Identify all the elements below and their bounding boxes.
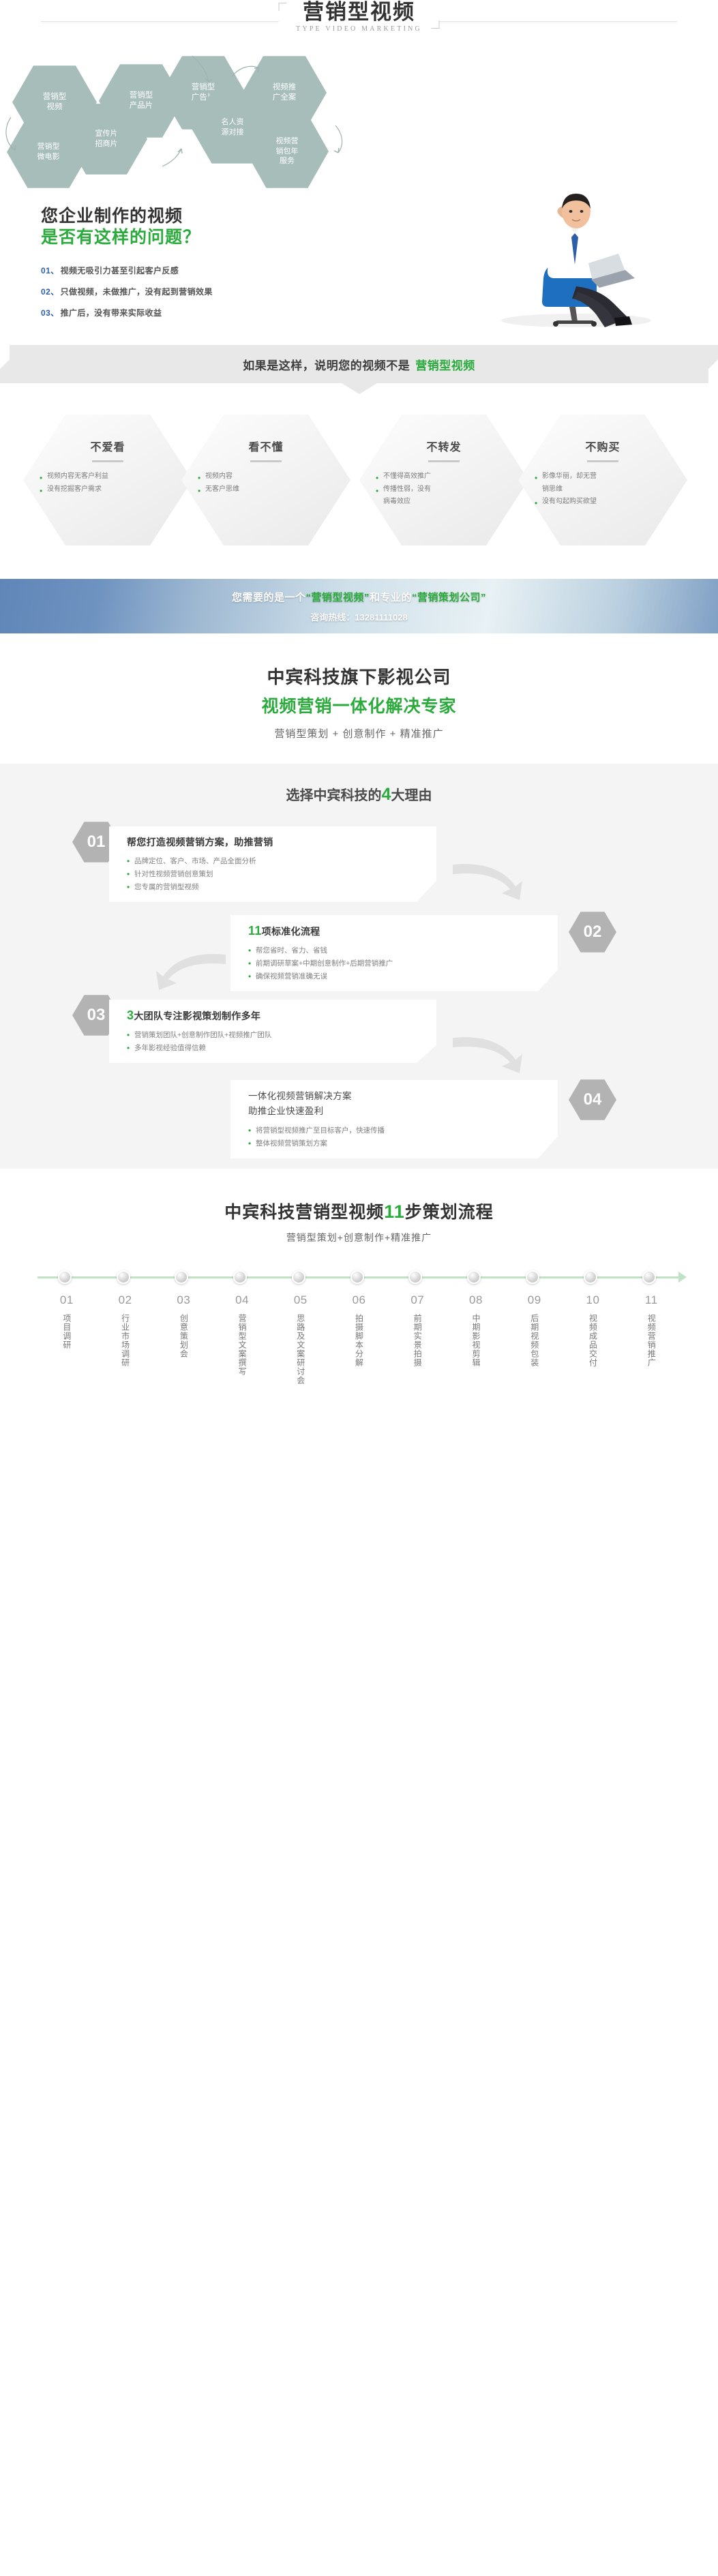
reason-card-0: 帮您打造视频营销方案，助推营销 品牌定位、客户、市场、产品全面分析 针对性视频营… <box>109 826 436 902</box>
problem-hex-1-list: 视频内容 无客户思维 <box>198 470 334 496</box>
problem-hex-3: 不购买 影像华丽，却无营 销思维 没有勾起购买欲望 <box>518 412 687 548</box>
step-4-label: 思路及文案研讨会 <box>295 1314 307 1385</box>
reasons-title-big: 4 <box>382 785 391 804</box>
step-3-number: 04 <box>213 1293 271 1307</box>
list-item: 不懂得高效推广 <box>376 470 512 483</box>
reasons-section: 选择中宾科技的4大理由 01 帮您打造视频营销方案，助推营销 品牌定位、客户、市… <box>0 764 718 1169</box>
reason-card-3-list: 将营销型视频推广至目标客户，快速传播 整体视频营销策划方案 <box>248 1124 544 1150</box>
service-hex-6-line-0: 营销型 <box>38 142 60 152</box>
timeline-dot <box>526 1270 539 1284</box>
problem-heading-line2: 是否有这样的问题？ <box>41 228 200 247</box>
step-7-number: 08 <box>447 1293 505 1307</box>
problem-item-0-num: 01、 <box>41 266 59 275</box>
landing-page: 营销型视频 TYPE VIDEO MARKETING 营销型 视频 宣传片 招商… <box>0 0 718 1416</box>
step-8-number: 09 <box>505 1293 564 1307</box>
gray-banner-highlight: 营销型视频 <box>415 359 475 372</box>
reason-arrow-0-icon <box>450 859 525 907</box>
list-item: 前期调研草案+中期创意制作+后期营销推广 <box>248 957 544 970</box>
step-0-number: 01 <box>38 1293 96 1307</box>
reasons-title: 选择中宾科技的4大理由 <box>0 784 718 805</box>
service-hex-0-line-0: 营销型 <box>43 92 67 102</box>
problem-hex-1: 看不懂 视频内容 无客户思维 <box>181 412 350 548</box>
service-hex-4-line-1: 源对接 <box>222 128 244 138</box>
service-hex-7-line-2: 服务 <box>276 156 299 166</box>
service-hex-1-line-0: 宣传片 <box>95 129 118 139</box>
timeline-dot <box>408 1270 422 1284</box>
steps-columns: 01 项目调研 02 行业市场调研 03 创意策划会 04 营销型文案撰写 05… <box>38 1293 680 1388</box>
problem-hex-0-divider <box>92 460 123 462</box>
list-item: 针对性视频营销创意策划 <box>127 868 423 881</box>
timeline-dot <box>58 1270 72 1284</box>
list-item: 营销策划团队+创意制作团队+视频推广团队 <box>127 1029 423 1042</box>
problem-item-2-text: 推广后，没有带来实际收益 <box>61 308 162 318</box>
list-item: 传播性弱，没有 <box>376 483 512 496</box>
reason-row-3: 04 一体化视频营销解决方案 助推企业快速盈利 将营销型视频推广至目标客户，快速… <box>0 1062 718 1137</box>
problem-hex-2-divider <box>428 460 460 462</box>
step-item-2: 03 创意策划会 <box>154 1293 213 1388</box>
step-item-0: 01 项目调研 <box>38 1293 96 1388</box>
service-hex-1-line-1: 招商片 <box>95 139 118 149</box>
reasons-title-pre: 选择中宾科技的 <box>286 788 382 803</box>
cta-mid: 和专业的 <box>370 592 412 603</box>
steps-title-big: 11 <box>384 1201 405 1222</box>
page-title: 营销型视频 <box>296 0 422 25</box>
list-item: 没有勾起购买欲望 <box>535 496 671 509</box>
list-item: 无客户思维 <box>198 483 334 496</box>
steps-title-post: 步策划流程 <box>405 1203 494 1222</box>
service-hex-2-line-0: 营销型 <box>130 91 153 101</box>
cta-quote-1: “营销型视频” <box>305 592 370 603</box>
cta-hotline: 咨询热线：13281111028 <box>310 610 407 623</box>
gray-banner-text: 如果是这样，说明您的视频不是 <box>243 359 410 372</box>
step-8-label: 后期视频包装 <box>528 1314 541 1367</box>
company-line-2: 视频营销一体化解决专家 <box>0 693 718 717</box>
step-10-label: 视频营销推广 <box>645 1314 657 1367</box>
reason-number-1: 02 <box>569 911 616 953</box>
gray-banner-wrap: 如果是这样，说明您的视频不是营销型视频 <box>0 345 718 394</box>
step-5-label: 拍摄脚本分解 <box>353 1314 365 1367</box>
steps-subtitle: 营销型策划+创意制作+精准推广 <box>0 1231 718 1244</box>
step-2-label: 创意策划会 <box>177 1314 190 1358</box>
corner-bracket-top-left-icon <box>278 3 286 11</box>
service-hex-0-line-1: 视频 <box>43 102 67 113</box>
list-item: 帮您省时、省力、省钱 <box>248 944 544 957</box>
timeline-dot <box>642 1270 656 1284</box>
reason-card-1-list: 帮您省时、省力、省钱 前期调研草案+中期创意制作+后期营销推广 确保视频营销准确… <box>248 944 544 983</box>
step-3-label: 营销型文案撰写 <box>236 1314 248 1376</box>
timeline-dot <box>467 1270 481 1284</box>
step-item-9: 10 视频成品交付 <box>564 1293 623 1388</box>
step-4-number: 05 <box>271 1293 330 1307</box>
cta-pre: 您需要的是一个 <box>232 592 306 603</box>
timeline-dot <box>292 1270 305 1284</box>
problem-hex-2-title: 不转发 <box>376 438 512 454</box>
step-0-label: 项目调研 <box>61 1314 73 1349</box>
problem-hex-3-divider <box>587 460 618 462</box>
step-9-number: 10 <box>564 1293 623 1307</box>
four-problems-section: 不爱看 视频内容无客户利益 没有挖掘客户需求 看不懂 视频内容 无客户思维 不转… <box>0 412 718 552</box>
problem-hex-3-title: 不购买 <box>535 438 671 454</box>
list-item: 没有挖掘客户需求 <box>40 483 176 496</box>
problem-item-1-text: 只做视频，未做推广，没有起到营销效果 <box>61 287 213 297</box>
reason-card-3-title: 一体化视频营销解决方案 助推企业快速盈利 <box>248 1089 544 1118</box>
cta-blue-banner: 您需要的是一个“营销型视频”和专业的“营销策划公司” 咨询热线：13281111… <box>0 579 718 633</box>
step-item-6: 07 前期实景拍摄 <box>388 1293 447 1388</box>
service-hex-7-line-0: 视频营 <box>276 136 299 147</box>
reason-card-2: 3大团队专注影视策划制作多年 营销策划团队+创意制作团队+视频推广团队 多年影视… <box>109 1000 436 1063</box>
step-item-7: 08 中期影视剪辑 <box>447 1293 505 1388</box>
service-hex-7-line-1: 销包年 <box>276 147 299 157</box>
reason-card-0-title: 帮您打造视频营销方案，助推营销 <box>127 835 423 849</box>
reason-card-1-title-text: 项标准化流程 <box>262 926 320 937</box>
gray-banner-notch <box>342 383 377 394</box>
step-7-label: 中期影视剪辑 <box>470 1314 482 1367</box>
problem-hex-2: 不转发 不懂得高效推广 传播性弱，没有 病毒效应 <box>359 412 528 548</box>
step-6-label: 前期实景拍摄 <box>411 1314 423 1367</box>
timeline-dot <box>233 1270 247 1284</box>
cta-headline: 您需要的是一个“营销型视频”和专业的“营销策划公司” <box>232 590 486 604</box>
problem-item-0-text: 视频无吸引力甚至引起客户反感 <box>61 266 179 275</box>
problem-hex-1-divider <box>250 460 282 462</box>
reason-row-0: 01 帮您打造视频营销方案，助推营销 品牌定位、客户、市场、产品全面分析 针对性… <box>0 821 718 901</box>
reason-card-2-title-big: 3 <box>127 1008 134 1022</box>
step-1-label: 行业市场调研 <box>119 1314 132 1367</box>
list-item: 品牌定位、客户、市场、产品全面分析 <box>127 855 423 868</box>
reason-row-1: 02 11项标准化流程 帮您省时、省力、省钱 前期调研草案+中期创意制作+后期营… <box>0 901 718 982</box>
page-subtitle: TYPE VIDEO MARKETING <box>296 25 422 33</box>
list-item: 销思维 <box>535 483 671 496</box>
reason-card-1: 11项标准化流程 帮您省时、省力、省钱 前期调研草案+中期创意制作+后期营销推广… <box>230 915 558 991</box>
list-item: 将营销型视频推广至目标客户，快速传播 <box>248 1124 544 1137</box>
step-item-10: 11 视频营销推广 <box>622 1293 680 1388</box>
header-title-block: 营销型视频 TYPE VIDEO MARKETING <box>278 0 440 33</box>
step-2-number: 03 <box>154 1293 213 1307</box>
list-item: 视频内容无客户利益 <box>40 470 176 483</box>
list-item: 影像华丽，却无营 <box>535 470 671 483</box>
timeline-dot <box>350 1270 364 1284</box>
list-item: 多年影视经验值得信赖 <box>127 1042 423 1055</box>
problem-heading-line1: 您企业制作的视频 <box>41 207 183 226</box>
company-section: 中宾科技旗下影视公司 视频营销一体化解决专家 营销型策划 + 创意制作 + 精准… <box>0 633 718 764</box>
page-header: 营销型视频 TYPE VIDEO MARKETING <box>0 0 718 42</box>
problem-item-1-num: 02、 <box>41 287 59 297</box>
reason-card-2-title: 3大团队专注影视策划制作多年 <box>127 1008 423 1023</box>
step-5-number: 06 <box>330 1293 389 1307</box>
problem-hex-2-list: 不懂得高效推广 传播性弱，没有 病毒效应 <box>376 470 512 509</box>
reason-card-2-title-text: 大团队专注影视策划制作多年 <box>134 1010 260 1021</box>
corner-bracket-bottom-right-icon <box>432 20 440 29</box>
timeline-arrow-icon <box>678 1272 687 1283</box>
list-item: 病毒效应 <box>376 496 512 509</box>
reason-card-1-title: 11项标准化流程 <box>248 924 544 938</box>
list-item: 您专属的营销型视频 <box>127 881 423 894</box>
step-10-number: 11 <box>622 1293 680 1307</box>
service-hexagon-grid: 营销型 视频 宣传片 招商片 营销型 产品片 营销型 广告片 名人资 源对接 视… <box>0 49 718 179</box>
list-item: 视频内容 <box>198 470 334 483</box>
service-hex-4-line-0: 名人资 <box>222 117 244 128</box>
cta-quote-2: “营销策划公司” <box>412 592 486 603</box>
problem-hex-0-list: 视频内容无客户利益 没有挖掘客户需求 <box>40 470 176 496</box>
list-item: 确保视频营销准确无误 <box>248 970 544 983</box>
step-item-5: 06 拍摄脚本分解 <box>330 1293 389 1388</box>
list-item: 整体视频营销策划方案 <box>248 1137 544 1150</box>
step-9-label: 视频成品交付 <box>586 1314 599 1367</box>
step-item-8: 09 后期视频包装 <box>505 1293 564 1388</box>
reason-number-1-value: 02 <box>584 923 602 942</box>
problem-section: 您企业制作的视频 是否有这样的问题？ 01、视频无吸引力甚至引起客户反感 02、… <box>0 179 718 329</box>
problem-hex-3-list: 影像华丽，却无营 销思维 没有勾起购买欲望 <box>535 470 671 509</box>
service-hex-5-line-1: 广全案 <box>273 93 297 103</box>
timeline-dot <box>175 1270 188 1284</box>
service-hex-6-line-1: 微电影 <box>38 152 60 162</box>
reason-number-3: 04 <box>569 1079 616 1121</box>
reason-number-2-value: 03 <box>87 1006 106 1025</box>
reason-card-2-list: 营销策划团队+创意制作团队+视频推广团队 多年影视经验值得信赖 <box>127 1029 423 1055</box>
steps-title: 中宾科技营销型视频11步策划流程 <box>0 1199 718 1223</box>
reason-card-3: 一体化视频营销解决方案 助推企业快速盈利 将营销型视频推广至目标客户，快速传播 … <box>230 1080 558 1158</box>
step-item-3: 04 营销型文案撰写 <box>213 1293 271 1388</box>
service-hex-5-line-0: 视频推 <box>273 83 297 93</box>
problem-hex-0-title: 不爱看 <box>40 438 176 454</box>
reason-card-3-title-line2: 助推企业快速盈利 <box>248 1106 323 1116</box>
step-1-number: 02 <box>96 1293 155 1307</box>
gray-banner: 如果是这样，说明您的视频不是营销型视频 <box>0 345 718 383</box>
company-line-1: 中宾科技旗下影视公司 <box>0 663 718 689</box>
gray-banner-text-row: 如果是这样，说明您的视频不是营销型视频 <box>243 356 475 373</box>
businessman-photo <box>474 184 678 327</box>
service-hex-2-line-1: 产品片 <box>130 101 153 111</box>
step-6-number: 07 <box>388 1293 447 1307</box>
step-item-1: 02 行业市场调研 <box>96 1293 155 1388</box>
reasons-title-post: 大理由 <box>391 788 432 803</box>
step-item-4: 05 思路及文案研讨会 <box>271 1293 330 1388</box>
steps-timeline <box>38 1266 680 1289</box>
reason-number-3-value: 04 <box>584 1090 602 1109</box>
problem-hex-0: 不爱看 视频内容无客户利益 没有挖掘客户需求 <box>23 412 192 548</box>
reason-card-3-title-line1: 一体化视频营销解决方案 <box>248 1091 352 1101</box>
company-line-3: 营销型策划 + 创意制作 + 精准推广 <box>0 726 718 740</box>
timeline-dot <box>584 1270 597 1284</box>
steps-title-pre: 中宾科技营销型视频 <box>224 1203 384 1222</box>
reason-row-2: 03 3大团队专注影视策划制作多年 营销策划团队+创意制作团队+视频推广团队 多… <box>0 982 718 1062</box>
steps-section: 中宾科技营销型视频11步策划流程 营销型策划+创意制作+精准推广 01 项目调研 <box>0 1169 718 1416</box>
problem-item-2-num: 03、 <box>41 308 59 318</box>
timeline-dot <box>117 1270 130 1284</box>
service-hex-3-line-0: 营销型 <box>192 83 215 93</box>
problem-hex-1-title: 看不懂 <box>198 438 334 454</box>
reason-card-0-list: 品牌定位、客户、市场、产品全面分析 针对性视频营销创意策划 您专属的营销型视频 <box>127 855 423 894</box>
reason-card-1-title-big: 11 <box>248 924 262 938</box>
